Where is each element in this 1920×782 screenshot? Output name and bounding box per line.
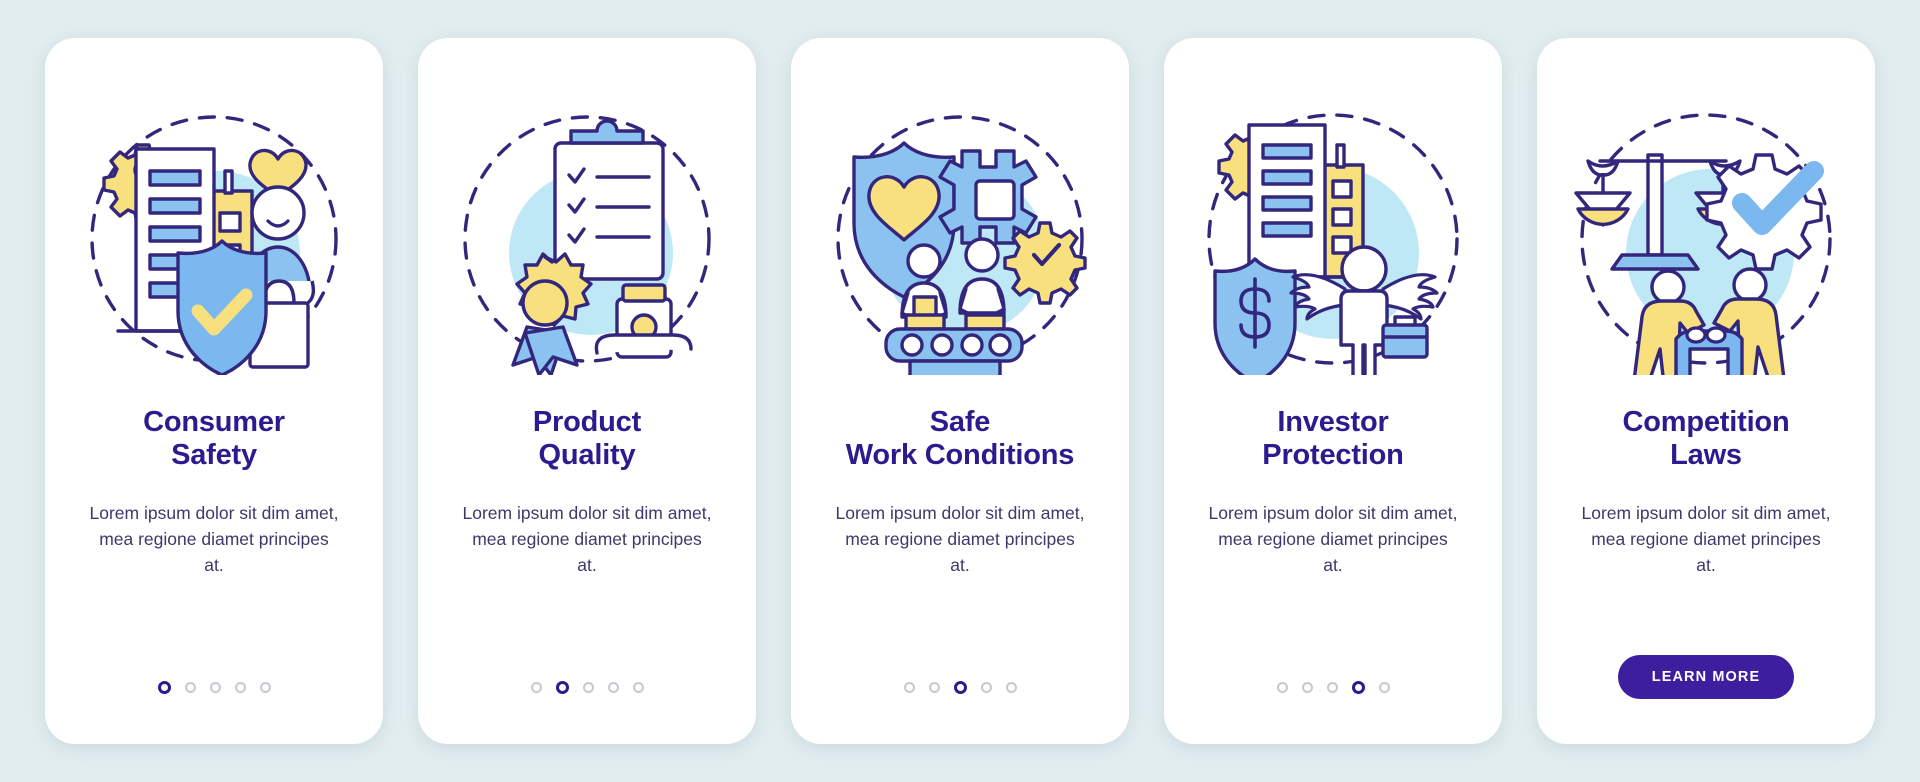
onboarding-card-competition-laws[interactable]: Competition Laws Lorem ipsum dolor sit d… bbox=[1537, 38, 1875, 744]
pagination-dot[interactable] bbox=[185, 682, 196, 693]
pagination-dot[interactable] bbox=[158, 681, 171, 694]
card-body-text: Lorem ipsum dolor sit dim amet, mea regi… bbox=[1581, 500, 1831, 578]
pagination-dot[interactable] bbox=[556, 681, 569, 694]
pagination-dot[interactable] bbox=[633, 682, 644, 693]
pagination-dots[interactable] bbox=[531, 681, 644, 694]
pagination-dot[interactable] bbox=[1006, 682, 1017, 693]
pagination-dot[interactable] bbox=[1302, 682, 1313, 693]
onboarding-card-safe-work-conditions[interactable]: Safe Work Conditions Lorem ipsum dolor s… bbox=[791, 38, 1129, 744]
onboarding-card-investor-protection[interactable]: Investor Protection Lorem ipsum dolor si… bbox=[1164, 38, 1502, 744]
pagination-dot[interactable] bbox=[954, 681, 967, 694]
pagination-dots[interactable] bbox=[158, 681, 271, 694]
pagination-dot[interactable] bbox=[1352, 681, 1365, 694]
card-body-text: Lorem ipsum dolor sit dim amet, mea regi… bbox=[1208, 500, 1458, 578]
card-title: Consumer Safety bbox=[143, 406, 285, 472]
learn-more-button[interactable]: LEARN MORE bbox=[1618, 655, 1794, 699]
pagination-dot[interactable] bbox=[583, 682, 594, 693]
pagination-dot[interactable] bbox=[608, 682, 619, 693]
building-shield-check-shopper-icon bbox=[69, 94, 359, 384]
card-body-text: Lorem ipsum dolor sit dim amet, mea regi… bbox=[462, 500, 712, 578]
onboarding-card-product-quality[interactable]: Product Quality Lorem ipsum dolor sit di… bbox=[418, 38, 756, 744]
pagination-dot[interactable] bbox=[1379, 682, 1390, 693]
pagination-dot[interactable] bbox=[981, 682, 992, 693]
card-title: Investor Protection bbox=[1262, 406, 1403, 472]
clipboard-checklist-award-badge-icon bbox=[442, 94, 732, 384]
pagination-dots[interactable] bbox=[1277, 681, 1390, 694]
card-title: Safe Work Conditions bbox=[846, 406, 1074, 472]
pagination-dots[interactable] bbox=[904, 681, 1017, 694]
pagination-dot[interactable] bbox=[260, 682, 271, 693]
pagination-dot[interactable] bbox=[1327, 682, 1338, 693]
onboarding-screens-container: Consumer Safety Lorem ipsum dolor sit di… bbox=[0, 0, 1920, 782]
card-body-text: Lorem ipsum dolor sit dim amet, mea regi… bbox=[835, 500, 1085, 578]
card-body-text: Lorem ipsum dolor sit dim amet, mea regi… bbox=[89, 500, 339, 578]
scales-justice-gear-check-handshake-icon bbox=[1561, 94, 1851, 384]
shield-heart-gears-conveyor-workers-icon bbox=[815, 94, 1105, 384]
pagination-dot[interactable] bbox=[904, 682, 915, 693]
pagination-dot[interactable] bbox=[210, 682, 221, 693]
card-title: Competition Laws bbox=[1623, 406, 1790, 472]
card-title: Product Quality bbox=[533, 406, 641, 472]
onboarding-card-consumer-safety[interactable]: Consumer Safety Lorem ipsum dolor sit di… bbox=[45, 38, 383, 744]
pagination-dot[interactable] bbox=[235, 682, 246, 693]
pagination-dot[interactable] bbox=[531, 682, 542, 693]
pagination-dot[interactable] bbox=[929, 682, 940, 693]
building-gear-dollar-shield-angel-investor-icon bbox=[1188, 94, 1478, 384]
pagination-dot[interactable] bbox=[1277, 682, 1288, 693]
